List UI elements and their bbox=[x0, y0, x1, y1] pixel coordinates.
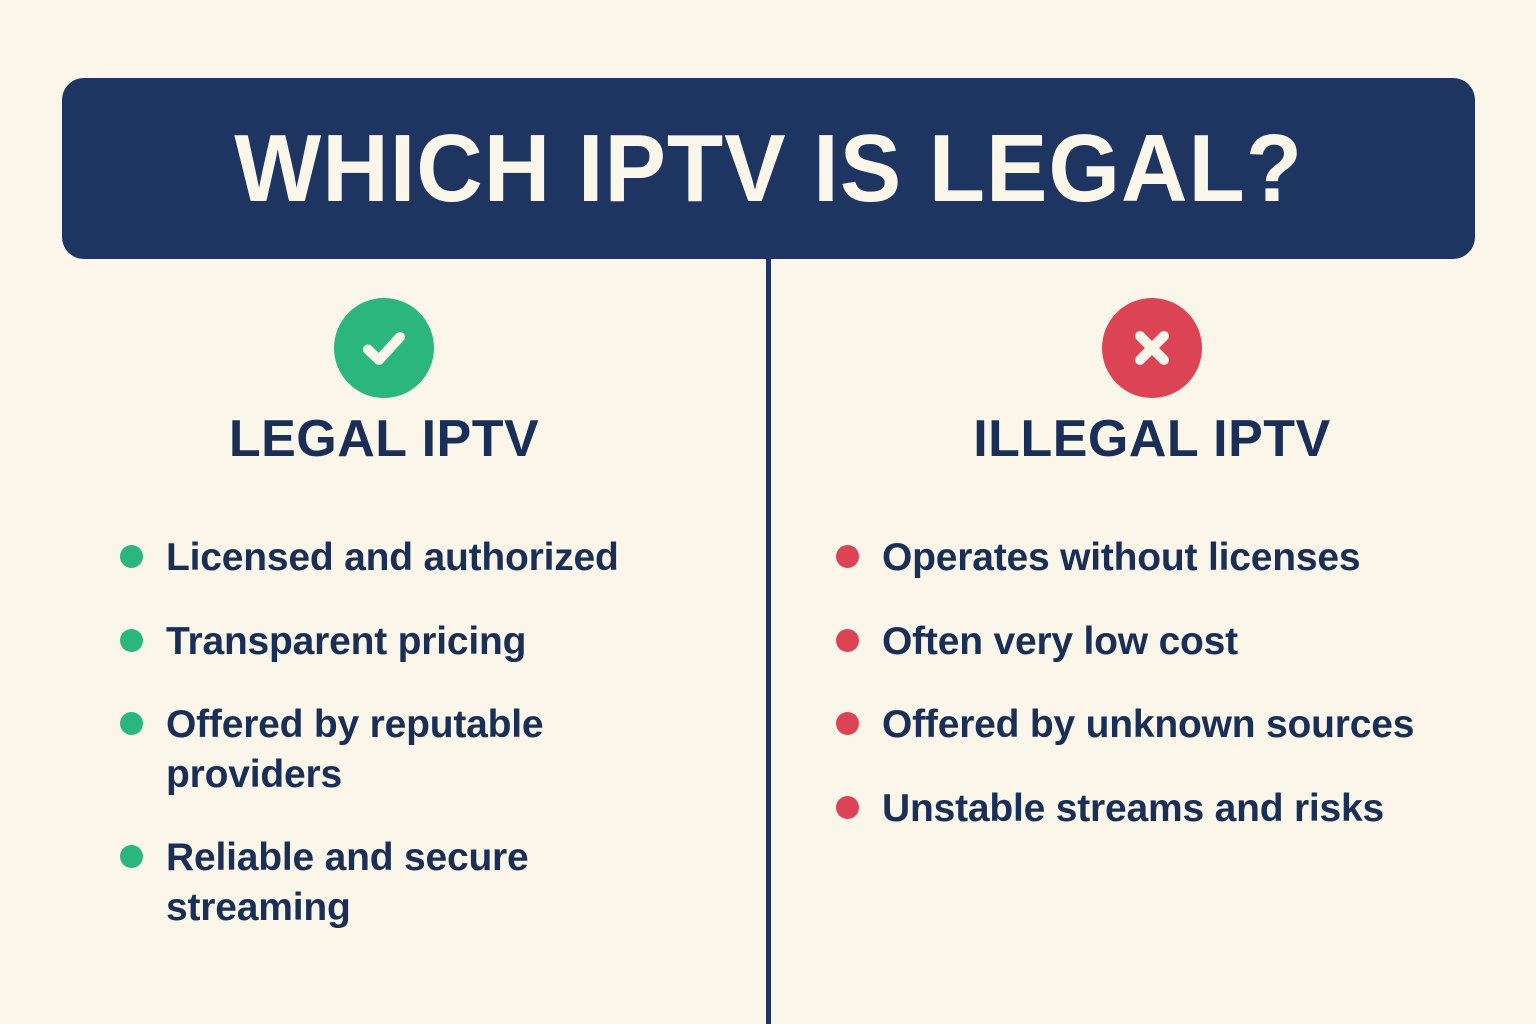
bullet-dot-icon bbox=[836, 545, 859, 568]
list-item: Reliable and secure streaming bbox=[120, 833, 650, 932]
infographic-root: WHICH IPTV IS LEGAL? LEGAL IPTV Licensed… bbox=[0, 0, 1536, 1024]
bullet-dot-icon bbox=[120, 545, 143, 568]
list-item-label: Unstable streams and risks bbox=[882, 784, 1384, 834]
list-item: Often very low cost bbox=[836, 617, 1456, 667]
legal-bullet-list: Licensed and authorized Transparent pric… bbox=[120, 533, 650, 932]
bullet-dot-icon bbox=[120, 629, 143, 652]
list-item: Offered by reputable providers bbox=[120, 700, 650, 799]
comparison-columns: LEGAL IPTV Licensed and authorized Trans… bbox=[0, 258, 1536, 1024]
legal-column-heading: LEGAL IPTV bbox=[0, 413, 768, 465]
column-illegal: ILLEGAL IPTV Operates without licenses O… bbox=[768, 258, 1536, 1024]
title-banner: WHICH IPTV IS LEGAL? bbox=[62, 78, 1475, 259]
illegal-bullet-list: Operates without licenses Often very low… bbox=[836, 533, 1456, 833]
list-item-label: Licensed and authorized bbox=[166, 533, 619, 583]
list-item: Unstable streams and risks bbox=[836, 784, 1456, 834]
bullet-dot-icon bbox=[836, 796, 859, 819]
page-title: WHICH IPTV IS LEGAL? bbox=[234, 121, 1303, 217]
check-circle-icon bbox=[334, 298, 434, 398]
x-circle-icon bbox=[1102, 298, 1202, 398]
bullet-dot-icon bbox=[120, 845, 143, 868]
list-item-label: Often very low cost bbox=[882, 617, 1238, 667]
list-item-label: Offered by reputable providers bbox=[166, 700, 650, 799]
illegal-column-heading: ILLEGAL IPTV bbox=[768, 413, 1536, 465]
list-item: Offered by unknown sources bbox=[836, 700, 1456, 750]
list-item: Operates without licenses bbox=[836, 533, 1456, 583]
illegal-icon-wrap bbox=[768, 298, 1536, 398]
bullet-dot-icon bbox=[120, 712, 143, 735]
legal-icon-wrap bbox=[0, 298, 768, 398]
list-item: Transparent pricing bbox=[120, 617, 650, 667]
bullet-dot-icon bbox=[836, 629, 859, 652]
list-item-label: Reliable and secure streaming bbox=[166, 833, 650, 932]
list-item: Licensed and authorized bbox=[120, 533, 650, 583]
list-item-label: Offered by unknown sources bbox=[882, 700, 1414, 750]
list-item-label: Operates without licenses bbox=[882, 533, 1360, 583]
bullet-dot-icon bbox=[836, 712, 859, 735]
list-item-label: Transparent pricing bbox=[166, 617, 526, 667]
column-legal: LEGAL IPTV Licensed and authorized Trans… bbox=[0, 258, 768, 1024]
